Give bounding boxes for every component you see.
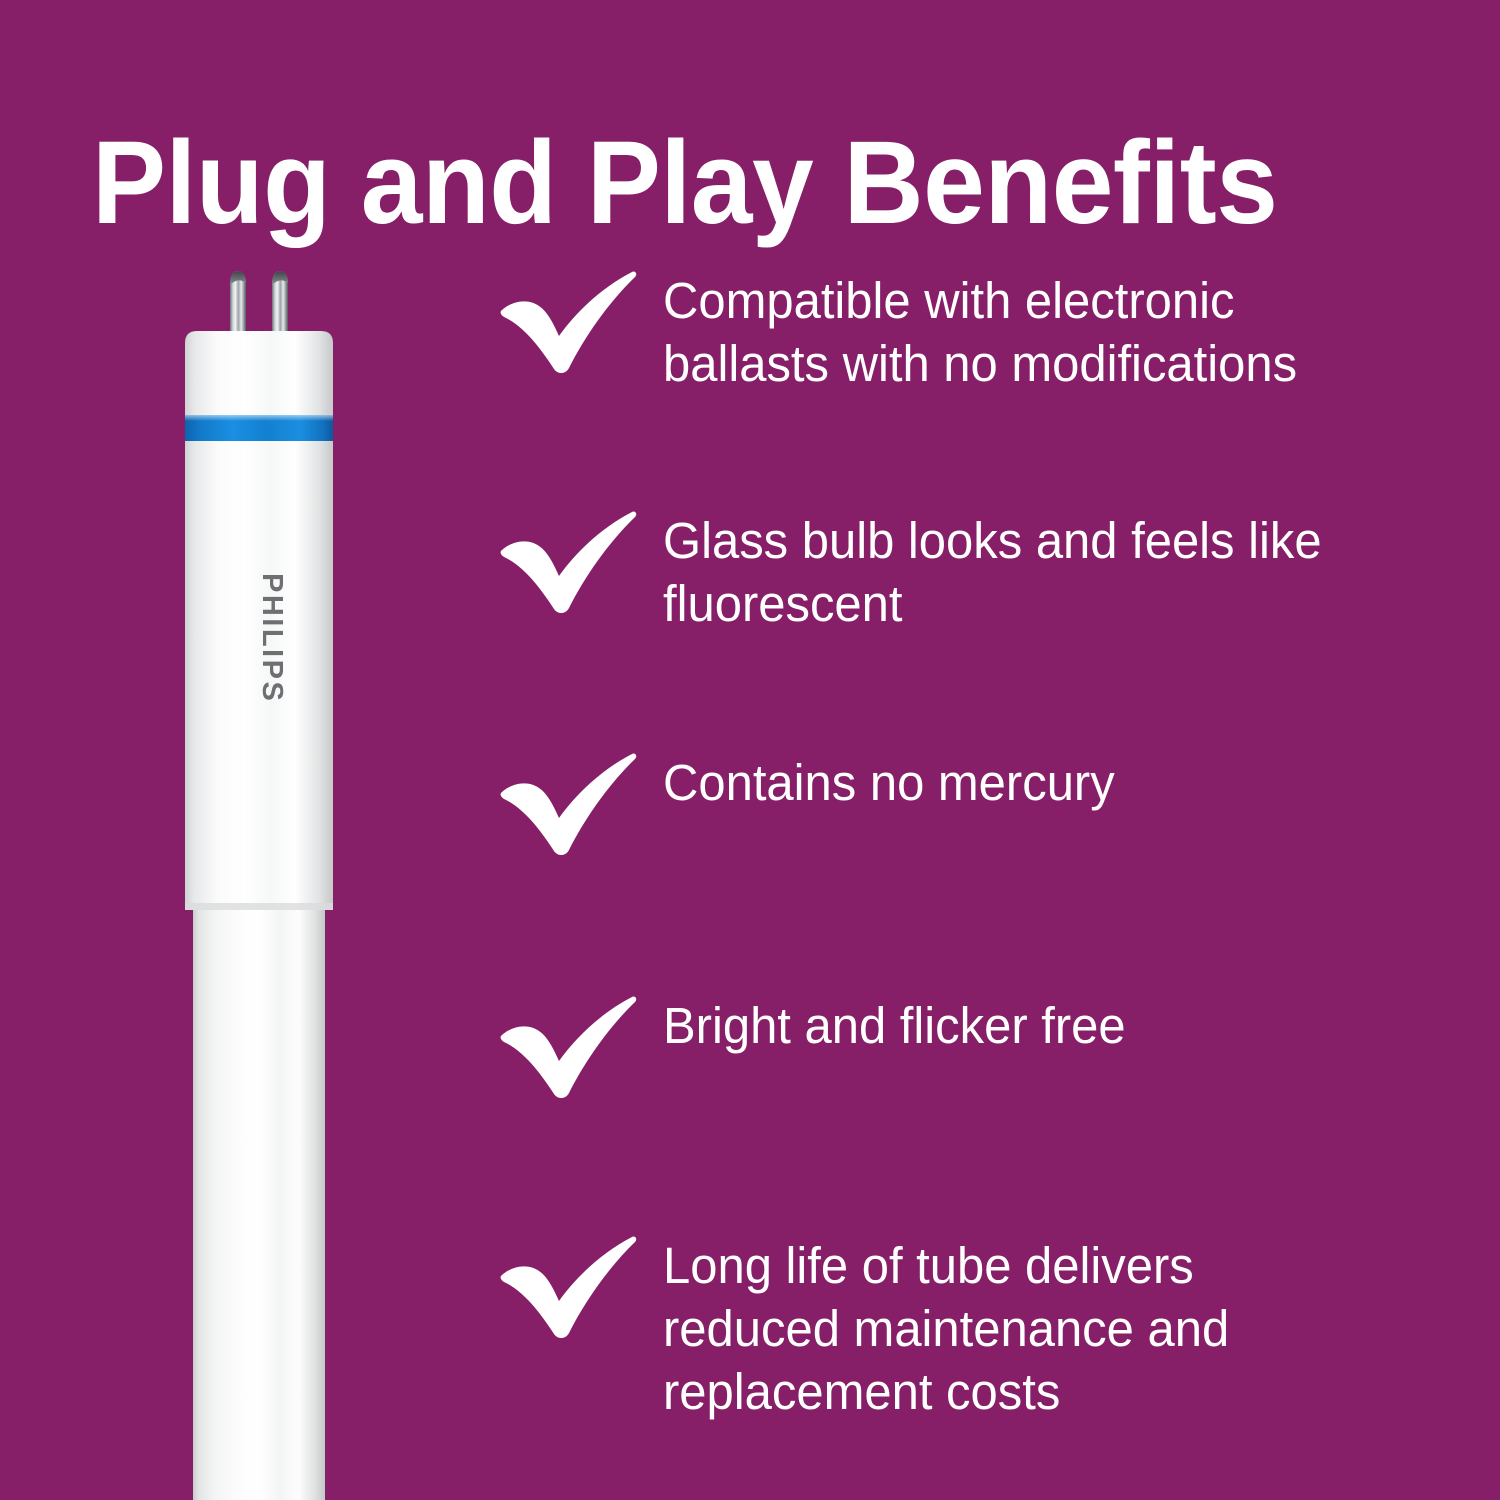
checkmark-icon (498, 990, 663, 1102)
benefit-text: Glass bulb looks and feels like fluoresc… (663, 505, 1426, 635)
benefit-item: Compatible with electronic ballasts with… (498, 265, 1458, 395)
infographic-page: Plug and Play Benefits (0, 0, 1500, 1500)
brand-text: PHILIPS (256, 573, 288, 703)
benefit-text: Bright and flicker free (663, 990, 1426, 1057)
benefit-text: Long life of tube delivers reduced maint… (663, 1230, 1426, 1423)
benefit-item: Glass bulb looks and feels like fluoresc… (498, 505, 1458, 635)
tube-cap-lip (185, 903, 333, 910)
benefit-text: Compatible with electronic ballasts with… (663, 265, 1426, 395)
checkmark-icon (498, 1230, 663, 1342)
page-title: Plug and Play Benefits (92, 121, 1352, 245)
tube-bipin-left (230, 271, 246, 335)
tube-bipin-right (272, 271, 288, 335)
benefit-item: Bright and flicker free (498, 990, 1458, 1102)
benefit-item: Contains no mercury (498, 747, 1458, 859)
benefit-item: Long life of tube delivers reduced maint… (498, 1230, 1458, 1423)
product-image-led-tube: PHILIPS (150, 255, 380, 1500)
checkmark-icon (498, 265, 663, 377)
benefit-text: Contains no mercury (663, 747, 1426, 814)
checkmark-icon (498, 505, 663, 617)
checkmark-icon (498, 747, 663, 859)
tube-glass-body (193, 910, 325, 1500)
tube-accent-band (185, 415, 333, 441)
product-brand-label: PHILIPS (256, 573, 288, 703)
